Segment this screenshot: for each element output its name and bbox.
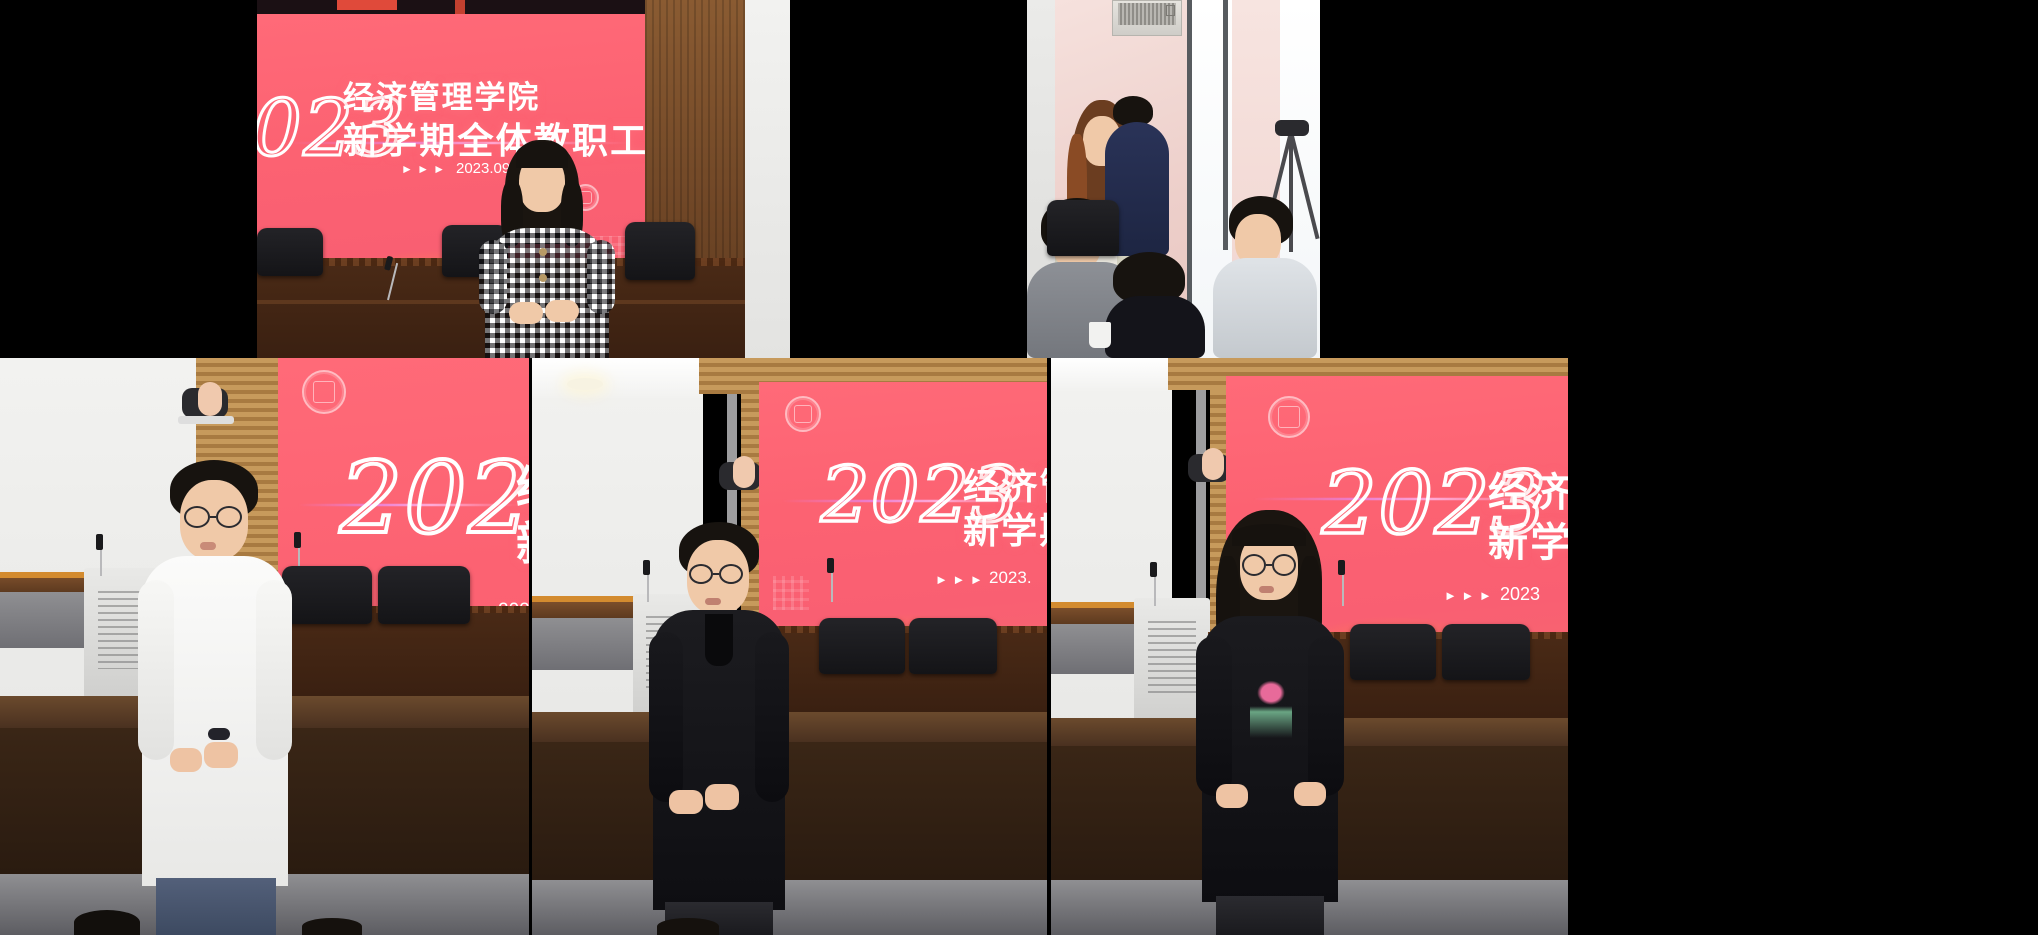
microphone-stem <box>831 570 833 602</box>
tshirt-graphic <box>1250 680 1292 738</box>
conference-chair <box>1350 624 1436 680</box>
letterbox-seam-1 <box>529 358 532 935</box>
letterbox-right-bottom <box>1568 358 2038 935</box>
eyeglasses <box>689 564 713 584</box>
person-speaker-woman <box>483 140 615 358</box>
photo-collage: 2023 经济管理学院 新学期全体教职工大会 ►►► 2023.09.06 <box>0 0 2038 935</box>
person-seated-attendee <box>1213 196 1317 358</box>
eyeglasses <box>216 506 242 528</box>
banner-line2: 新学期 <box>963 502 1049 554</box>
microphone-stem <box>647 572 649 602</box>
gooseneck-microphone <box>1338 560 1345 575</box>
ptz-camera <box>1275 120 1309 136</box>
eyeglasses <box>719 564 743 584</box>
gooseneck-microphone <box>827 558 834 573</box>
person-seated-attendee <box>1105 252 1205 358</box>
person-speaker-woman-black <box>1202 510 1338 935</box>
microphone-stem <box>1342 572 1344 606</box>
banner-arrows: ►►► <box>401 162 449 176</box>
panel-top-left[interactable]: 2023 经济管理学院 新学期全体教职工大会 ►►► 2023.09.06 <box>257 0 790 358</box>
panel-bottom-left[interactable]: 2023 经济管 新学期全 ►►► 2023. <box>0 358 530 935</box>
conference-chair <box>625 222 695 280</box>
university-seal <box>785 396 821 432</box>
conference-chair <box>1442 624 1530 680</box>
panel-bottom-middle[interactable]: 2023 经济管 新学期 ►►► 2023. <box>531 358 1049 935</box>
conference-chair <box>819 618 905 674</box>
microphone-stem <box>100 546 102 576</box>
letterbox-left-top <box>0 0 257 358</box>
gooseneck-microphone <box>96 534 103 550</box>
banner-line2: 新学期全 <box>516 508 530 574</box>
banner-arrows: ►►► <box>935 572 987 587</box>
wall-mounted-speaker <box>1112 0 1182 36</box>
panel-top-right[interactable] <box>1027 0 1320 358</box>
side-wall <box>745 0 790 358</box>
banner-date: 2023 <box>1500 584 1540 605</box>
person-speaker-man-black <box>653 522 785 935</box>
banner-line1: 经济管理学院 <box>343 72 540 117</box>
conference-chair <box>378 566 470 624</box>
microphone-stem <box>1154 574 1156 606</box>
banner-arrows: ►►► <box>1444 588 1496 603</box>
eyeglasses <box>1272 554 1296 576</box>
banner-line2: 新学期 <box>1488 510 1568 568</box>
letterbox-seam-2 <box>1047 358 1051 935</box>
conference-chair <box>257 228 323 276</box>
letterbox-mid-top <box>790 0 1027 358</box>
gooseneck-microphone <box>643 560 650 575</box>
banner-year: 2023 <box>340 442 530 556</box>
conference-chair <box>909 618 997 674</box>
letterbox-right-top <box>1320 0 2038 358</box>
panel-bottom-right[interactable]: 2023 经济管 新学期 ►►► 2023 <box>1050 358 1568 935</box>
conference-chair <box>1047 200 1119 256</box>
person-speaker-man-white <box>142 460 288 935</box>
eyeglasses <box>1242 554 1266 576</box>
university-seal <box>302 370 346 414</box>
gooseneck-microphone <box>1150 562 1157 577</box>
gooseneck-microphone <box>294 532 301 548</box>
university-seal <box>1268 396 1310 438</box>
banner-date: 2023. <box>989 568 1032 588</box>
conference-chair <box>282 566 372 624</box>
eyeglasses <box>184 506 210 528</box>
